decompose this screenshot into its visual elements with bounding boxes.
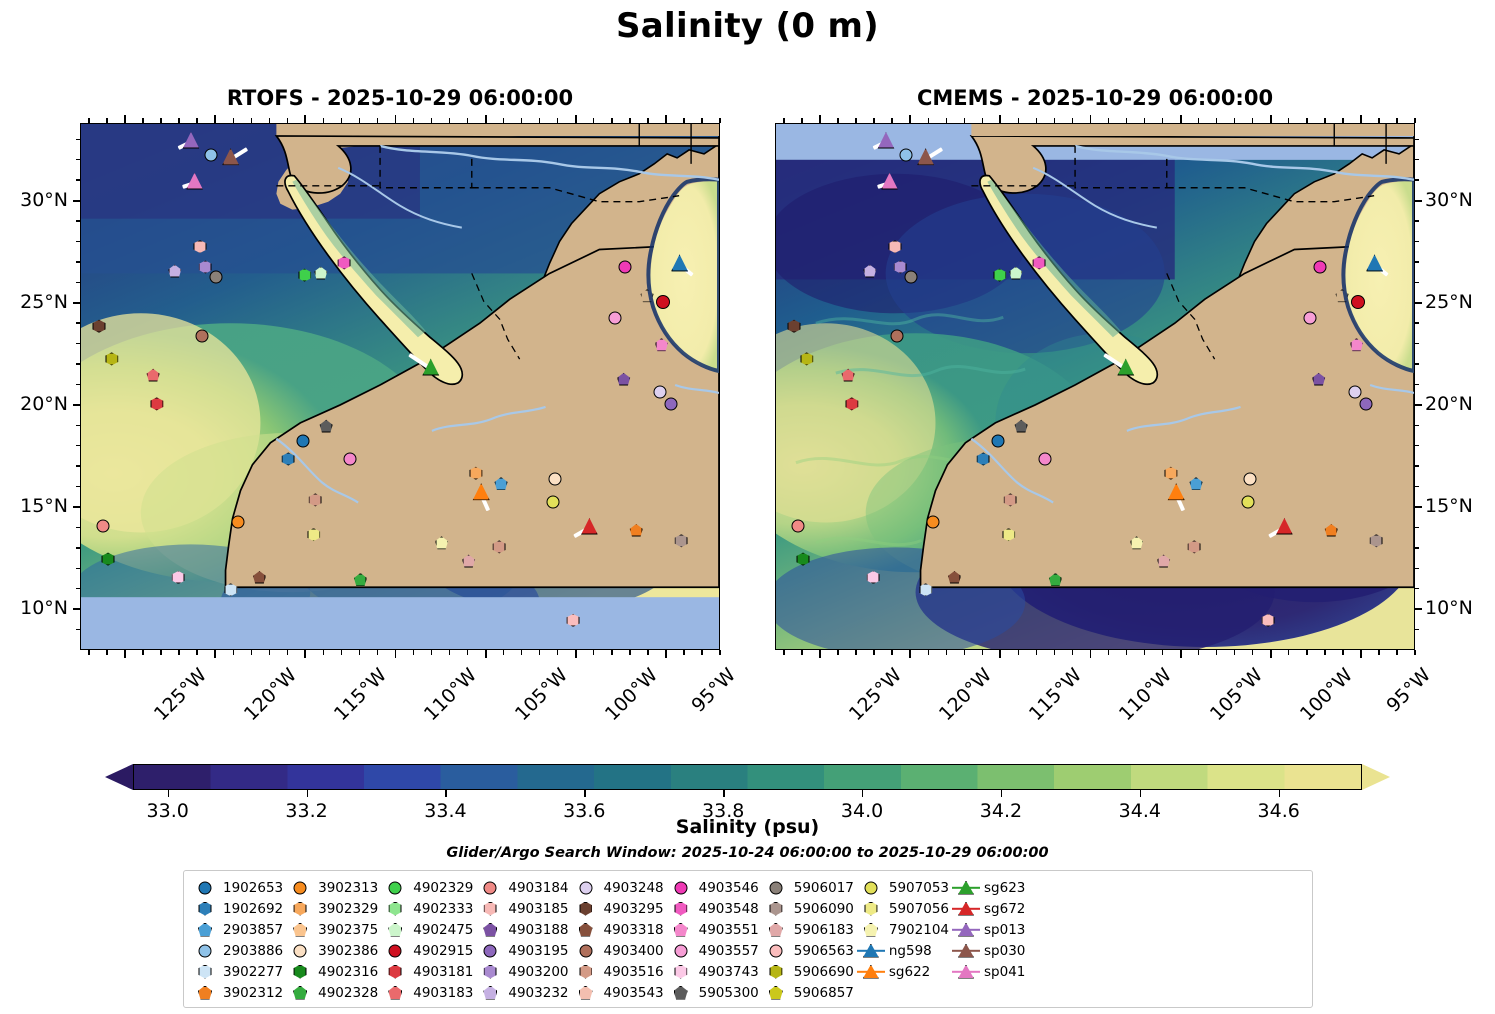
map-marker-4903546[interactable]	[1314, 260, 1327, 273]
legend-item-3902386[interactable]: 3902386	[285, 940, 378, 961]
lon-minor-tick-top	[964, 118, 965, 123]
lat-minor-tick	[1415, 241, 1419, 242]
map-marker-4903400[interactable]	[195, 330, 208, 343]
colorbar-tick	[584, 790, 585, 797]
lon-minor-tick-top	[377, 118, 378, 123]
legend-column: sg623sg672sp013sp030sp041	[951, 877, 1025, 1003]
legend-glyph	[579, 902, 592, 916]
legend-item-4903743[interactable]: 4903743	[666, 961, 759, 982]
map-marker-4903195[interactable]	[664, 397, 677, 410]
legend-item-sp013[interactable]: sp013	[951, 919, 1025, 940]
lon-minor-tick-top	[1144, 118, 1145, 123]
map-marker-4903400[interactable]	[890, 330, 903, 343]
map-marker-5907053[interactable]	[1242, 495, 1255, 508]
legend-marker-5906563	[761, 941, 791, 961]
lat-tick	[1415, 506, 1422, 508]
lon-minor-tick	[629, 650, 630, 655]
lon-minor-tick-top	[1252, 118, 1253, 123]
legend-glyph	[579, 944, 592, 957]
legend-glyph	[864, 902, 877, 916]
lon-minor-tick-top	[982, 118, 983, 123]
lon-tick-label: 110°W	[420, 664, 481, 725]
map-marker-2903886[interactable]	[204, 148, 217, 161]
legend-label: sg672	[981, 901, 1025, 917]
map-marker-4903184[interactable]	[791, 520, 804, 533]
lat-tick-label: 10°N	[1425, 597, 1495, 619]
lon-minor-tick-top	[1072, 118, 1073, 123]
lon-minor-tick-top	[160, 118, 161, 123]
rtofs-panel-title: RTOFS - 2025-10-29 06:00:00	[80, 86, 720, 110]
legend-label: 4903295	[601, 901, 664, 917]
legend-item-5906857[interactable]: 5906857	[761, 982, 854, 1003]
colorbar-tick	[445, 790, 446, 797]
lon-minor-tick	[855, 650, 856, 655]
map-marker-4903184[interactable]	[96, 520, 109, 533]
legend-label: 3902329	[315, 901, 378, 917]
legend-marker-4903200	[475, 962, 505, 982]
legend-item-4903248[interactable]: 4903248	[571, 877, 664, 898]
lon-minor-tick-top	[593, 118, 594, 123]
lon-minor-tick	[1108, 650, 1109, 655]
lon-tick-top	[124, 115, 126, 123]
colorbar[interactable]: 33.033.233.433.633.834.034.234.434.6	[105, 764, 1390, 790]
lon-minor-tick	[683, 650, 684, 655]
lon-minor-tick	[946, 650, 947, 655]
legend-marker-4902316	[285, 962, 315, 982]
legend-item-3902313[interactable]: 3902313	[285, 877, 378, 898]
lat-minor-tick	[1415, 261, 1419, 262]
lon-tick-label: 105°W	[511, 664, 572, 725]
lat-tick	[73, 200, 80, 202]
lat-tick-label: 10°N	[0, 597, 68, 619]
lat-minor-tick	[76, 486, 80, 487]
legend-label: 3902386	[315, 943, 378, 959]
lon-tick	[1180, 650, 1182, 658]
lat-tick-label: 30°N	[1425, 189, 1495, 211]
legend-item-3902277[interactable]: 3902277	[190, 961, 283, 982]
legend-label: 4903516	[601, 964, 664, 980]
lon-tick-top	[214, 115, 216, 123]
legend-marker-4903181	[380, 962, 410, 982]
colorbar-tick	[862, 790, 863, 797]
legend-glyph	[769, 965, 782, 979]
lon-minor-tick-top	[946, 118, 947, 123]
legend-item-4903516[interactable]: 4903516	[571, 961, 664, 982]
map-marker-5906017[interactable]	[905, 271, 918, 284]
legend-label: 4903743	[696, 964, 759, 980]
legend-label: 4903232	[505, 985, 568, 1001]
legend-label: 4903318	[601, 922, 664, 938]
lon-minor-tick	[521, 650, 522, 655]
legend-item-4902316[interactable]: 4902316	[285, 961, 378, 982]
legend-label: 3902277	[220, 964, 283, 980]
legend-item-4903185[interactable]: 4903185	[475, 898, 568, 919]
colorbar-label: Salinity (psu)	[0, 816, 1495, 838]
legend-marker-5907053	[856, 878, 886, 898]
legend-marker-sp030	[951, 941, 981, 961]
lon-minor-tick	[873, 650, 874, 655]
lon-minor-tick	[341, 650, 342, 655]
lon-tick-top	[1360, 115, 1362, 123]
legend-item-4903295[interactable]: 4903295	[571, 898, 664, 919]
lat-tick	[73, 608, 80, 610]
colorbar-tick	[1279, 790, 1280, 797]
legend-label: sp030	[981, 943, 1025, 959]
legend-column: 3902313390232939023753902386490231649023…	[285, 877, 378, 1003]
lon-minor-tick-top	[1342, 118, 1343, 123]
legend-label: 4903181	[410, 964, 473, 980]
legend-item-4902915[interactable]: 4902915	[380, 940, 473, 961]
map-marker-4903248[interactable]	[1348, 385, 1361, 398]
legend-column: 4903546490354849035514903557490374359053…	[666, 877, 759, 1003]
legend-marker-4903248	[571, 878, 601, 898]
legend-item-5906090[interactable]: 5906090	[761, 898, 854, 919]
lon-minor-tick	[287, 650, 288, 655]
legend-item-4903557[interactable]: 4903557	[666, 940, 759, 961]
cmems-map-panel[interactable]	[775, 123, 1415, 650]
map-marker-4902333[interactable]	[549, 473, 562, 486]
legend-item-4903546[interactable]: 4903546	[666, 877, 759, 898]
legend-item-sg623[interactable]: sg623	[951, 877, 1025, 898]
lat-minor-tick	[76, 343, 80, 344]
map-marker-4903557[interactable]	[608, 312, 621, 325]
legend-label: 5906017	[791, 880, 854, 896]
legend-label: 4903546	[696, 880, 759, 896]
legend-glyph	[389, 881, 402, 894]
legend-marker-4903185	[475, 899, 505, 919]
legend-glyph	[484, 902, 497, 916]
lat-tick-label: 15°N	[1425, 495, 1495, 517]
legend-item-5906690[interactable]: 5906690	[761, 961, 854, 982]
lat-minor-tick	[1415, 384, 1419, 385]
lon-minor-tick	[467, 650, 468, 655]
legend-glyph	[484, 944, 497, 957]
legend-glyph	[484, 965, 497, 979]
colorbar-low-extend	[105, 764, 133, 790]
legend-marker-sp041	[951, 962, 981, 982]
lon-minor-tick-top	[928, 118, 929, 123]
legend-label: 4902328	[315, 985, 378, 1001]
map-marker-3902313[interactable]	[926, 516, 939, 529]
lon-minor-tick	[1198, 650, 1199, 655]
lon-minor-tick-top	[1378, 118, 1379, 123]
map-marker-4903518[interactable]	[343, 452, 356, 465]
legend-glyph	[864, 881, 877, 894]
lon-minor-tick-top	[341, 118, 342, 123]
lat-minor-tick	[76, 465, 80, 466]
legend-marker-4903516	[571, 962, 601, 982]
legend-marker-5906690	[761, 962, 791, 982]
lat-minor-tick	[76, 241, 80, 242]
lon-minor-tick	[1342, 650, 1343, 655]
legend-glyph	[199, 965, 212, 979]
legend-glyph	[674, 902, 687, 916]
legend-label: 4903184	[505, 880, 568, 896]
lon-minor-tick	[413, 650, 414, 655]
lon-minor-tick	[1396, 650, 1397, 655]
map-marker-4903557[interactable]	[1303, 312, 1316, 325]
lat-tick	[1415, 608, 1422, 610]
legend-item-7902104[interactable]: 7902104	[856, 919, 949, 940]
lon-minor-tick-top	[413, 118, 414, 123]
lat-minor-tick	[1415, 425, 1419, 426]
lon-minor-tick	[964, 650, 965, 655]
lon-minor-tick-top	[467, 118, 468, 123]
legend-glyph	[674, 986, 688, 1000]
legend-marker-5907056	[856, 899, 886, 919]
lon-minor-tick	[1216, 650, 1217, 655]
lat-minor-tick	[76, 629, 80, 630]
legend-item-4903551[interactable]: 4903551	[666, 919, 759, 940]
map-marker-4903518[interactable]	[1038, 452, 1051, 465]
lon-minor-tick	[142, 650, 143, 655]
legend-marker-4903184	[475, 878, 505, 898]
legend-item-4903184[interactable]: 4903184	[475, 877, 568, 898]
cmems-panel-title: CMEMS - 2025-10-29 06:00:00	[775, 86, 1415, 110]
legend-item-5907053[interactable]: 5907053	[856, 877, 949, 898]
legend-glyph	[199, 944, 212, 957]
lon-tick-top	[485, 115, 487, 123]
lon-minor-tick	[891, 650, 892, 655]
lon-minor-tick	[593, 650, 594, 655]
lon-minor-tick-top	[196, 118, 197, 123]
legend-item-4902475[interactable]: 4902475	[380, 919, 473, 940]
lon-tick-top	[1180, 115, 1182, 123]
lon-minor-tick-top	[106, 118, 107, 123]
legend-item-4903543[interactable]: 4903543	[571, 982, 664, 1003]
legend-marker-sg622	[856, 962, 886, 982]
legend-item-1902653[interactable]: 1902653	[190, 877, 283, 898]
lon-minor-tick-top	[539, 118, 540, 123]
legend-item-4903195[interactable]: 4903195	[475, 940, 568, 961]
lon-minor-tick-top	[323, 118, 324, 123]
legend-label: ng598	[886, 943, 932, 959]
lon-minor-tick-top	[178, 118, 179, 123]
legend-marker-sg623	[951, 878, 981, 898]
map-marker-4903195[interactable]	[1359, 397, 1372, 410]
legend-label: 4903200	[505, 964, 568, 980]
lat-minor-tick	[1415, 568, 1419, 569]
legend-label: 4902915	[410, 943, 473, 959]
lon-minor-tick-top	[1108, 118, 1109, 123]
legend-marker-sp013	[951, 920, 981, 940]
legend-item-3902312[interactable]: 3902312	[190, 982, 283, 1003]
lon-minor-tick	[1324, 650, 1325, 655]
lon-minor-tick	[783, 650, 784, 655]
lon-minor-tick	[196, 650, 197, 655]
lon-minor-tick	[837, 650, 838, 655]
legend-item-2903857[interactable]: 2903857	[190, 919, 283, 940]
legend-label: 4903557	[696, 943, 759, 959]
lon-minor-tick-top	[873, 118, 874, 123]
lon-minor-tick	[1252, 650, 1253, 655]
legend-marker-3902386	[285, 941, 315, 961]
legend-item-4903400[interactable]: 4903400	[571, 940, 664, 961]
lon-tick-label: 100°W	[601, 664, 662, 725]
map-marker-5906017[interactable]	[210, 271, 223, 284]
map-marker-1902653[interactable]	[991, 434, 1004, 447]
legend-item-4902329[interactable]: 4902329	[380, 877, 473, 898]
lon-minor-tick	[106, 650, 107, 655]
legend-glyph	[294, 881, 307, 894]
legend-glyph	[579, 986, 593, 1000]
legend-label: sp041	[981, 964, 1025, 980]
legend-glyph	[483, 986, 497, 1000]
lon-minor-tick	[982, 650, 983, 655]
legend-item-5906017[interactable]: 5906017	[761, 877, 854, 898]
legend-item-3902375[interactable]: 3902375	[285, 919, 378, 940]
lon-minor-tick-top	[1234, 118, 1235, 123]
legend-marker-4902475	[380, 920, 410, 940]
lon-minor-tick	[647, 650, 648, 655]
legend-item-sp041[interactable]: sp041	[951, 961, 1025, 982]
legend-label: 5905300	[696, 985, 759, 1001]
lon-minor-tick	[269, 650, 270, 655]
legend-marker-4903195	[475, 941, 505, 961]
lat-minor-tick	[76, 568, 80, 569]
legend-marker-2903857	[190, 920, 220, 940]
lon-minor-tick-top	[783, 118, 784, 123]
legend-item-5906563[interactable]: 5906563	[761, 940, 854, 961]
legend-label: 4903400	[601, 943, 664, 959]
legend-glyph	[674, 923, 688, 937]
legend-glyph	[484, 881, 497, 894]
map-marker-3902313[interactable]	[231, 516, 244, 529]
lat-tick-label: 25°N	[1425, 291, 1495, 313]
lon-tick-top	[819, 115, 821, 123]
lat-minor-tick	[76, 322, 80, 323]
lat-tick-label: 20°N	[1425, 393, 1495, 415]
lon-minor-tick-top	[557, 118, 558, 123]
lon-tick-top	[665, 115, 667, 123]
legend-item-4903181[interactable]: 4903181	[380, 961, 473, 982]
legend-label: sp013	[981, 922, 1025, 938]
lon-minor-tick	[1414, 650, 1415, 655]
lat-minor-tick	[76, 527, 80, 528]
legend-item-1902692[interactable]: 1902692	[190, 898, 283, 919]
legend-item-5905300[interactable]: 5905300	[666, 982, 759, 1003]
legend-label: 5906090	[791, 901, 854, 917]
legend-label: 4902329	[410, 880, 473, 896]
lat-tick	[73, 506, 80, 508]
rtofs-salinity-field	[81, 124, 719, 649]
legend-item-sg672[interactable]: sg672	[951, 898, 1025, 919]
legend-item-5906183[interactable]: 5906183	[761, 919, 854, 940]
legend-glyph	[389, 944, 402, 957]
legend-marker-1902653	[190, 878, 220, 898]
legend-item-4903548[interactable]: 4903548	[666, 898, 759, 919]
legend-item-4903200[interactable]: 4903200	[475, 961, 568, 982]
lon-minor-tick-top	[801, 118, 802, 123]
legend-item-4903188[interactable]: 4903188	[475, 919, 568, 940]
legend-label: 4903548	[696, 901, 759, 917]
legend-label: 4902475	[410, 922, 473, 938]
legend-glyph	[579, 923, 593, 937]
legend-glyph	[674, 881, 687, 894]
lon-minor-tick	[557, 650, 558, 655]
legend-item-4902328[interactable]: 4902328	[285, 982, 378, 1003]
map-marker-2903886[interactable]	[899, 148, 912, 161]
legend-marker-4903232	[475, 983, 505, 1003]
lon-tick-label: 95°W	[687, 664, 740, 717]
rtofs-map-panel[interactable]	[80, 123, 720, 650]
legend-item-4903183[interactable]: 4903183	[380, 982, 473, 1003]
lat-minor-tick	[1415, 343, 1419, 344]
lon-tick-top	[304, 115, 306, 123]
lon-tick-top	[909, 115, 911, 123]
legend-marker-4903400	[571, 941, 601, 961]
lon-tick	[1270, 650, 1272, 658]
legend-label: 5907056	[886, 901, 949, 917]
lon-tick	[214, 650, 216, 658]
legend-item-5907056[interactable]: 5907056	[856, 898, 949, 919]
legend-column: 590705359070567902104ng598sg622	[856, 877, 949, 1003]
legend-item-4903232[interactable]: 4903232	[475, 982, 568, 1003]
lat-minor-tick	[76, 445, 80, 446]
legend-glyph	[769, 881, 782, 894]
lon-minor-tick-top	[233, 118, 234, 123]
map-marker-4903248[interactable]	[653, 385, 666, 398]
legend-item-4902333[interactable]: 4902333	[380, 898, 473, 919]
legend-item-sp030[interactable]: sp030	[951, 940, 1025, 961]
lon-minor-tick	[1234, 650, 1235, 655]
lon-minor-tick-top	[503, 118, 504, 123]
legend-label: 2903886	[220, 943, 283, 959]
legend-glyph	[388, 986, 402, 1000]
lat-minor-tick	[76, 139, 80, 140]
page-title: Salinity (0 m)	[0, 6, 1495, 46]
lat-tick-label: 25°N	[0, 291, 68, 313]
lon-minor-tick-top	[1306, 118, 1307, 123]
lon-tick	[575, 650, 577, 658]
lon-minor-tick	[1072, 650, 1073, 655]
colorbar-tick	[307, 790, 308, 797]
map-marker-5907053[interactable]	[547, 495, 560, 508]
lat-minor-tick	[76, 220, 80, 221]
lon-minor-tick-top	[855, 118, 856, 123]
map-marker-4902333[interactable]	[1244, 473, 1257, 486]
legend-marker-4903743	[666, 962, 696, 982]
legend-marker-4902329	[380, 878, 410, 898]
lon-minor-tick-top	[431, 118, 432, 123]
platform-legend[interactable]: 1902653190269229038572903886390227739023…	[183, 870, 1313, 1008]
lon-minor-tick-top	[269, 118, 270, 123]
lon-minor-tick	[1018, 650, 1019, 655]
map-marker-4902915[interactable]	[656, 295, 670, 309]
legend-label: 5906690	[791, 964, 854, 980]
legend-item-sg622[interactable]: sg622	[856, 961, 949, 982]
map-marker-1902653[interactable]	[296, 434, 309, 447]
map-marker-4903546[interactable]	[619, 260, 632, 273]
lon-minor-tick	[611, 650, 612, 655]
legend-item-ng598[interactable]: ng598	[856, 940, 949, 961]
lon-tick	[124, 650, 126, 658]
legend-marker-4902915	[380, 941, 410, 961]
legend-marker-3902313	[285, 878, 315, 898]
legend-item-4903318[interactable]: 4903318	[571, 919, 664, 940]
legend-glyph	[198, 923, 212, 937]
lat-minor-tick	[76, 179, 80, 180]
legend-item-2903886[interactable]: 2903886	[190, 940, 283, 961]
lat-minor-tick	[76, 159, 80, 160]
lon-minor-tick	[431, 650, 432, 655]
legend-glyph	[293, 923, 307, 937]
legend-item-3902329[interactable]: 3902329	[285, 898, 378, 919]
lat-minor-tick	[1415, 159, 1419, 160]
lon-minor-tick-top	[287, 118, 288, 123]
map-marker-4902915[interactable]	[1351, 295, 1365, 309]
lat-tick-label: 15°N	[0, 495, 68, 517]
